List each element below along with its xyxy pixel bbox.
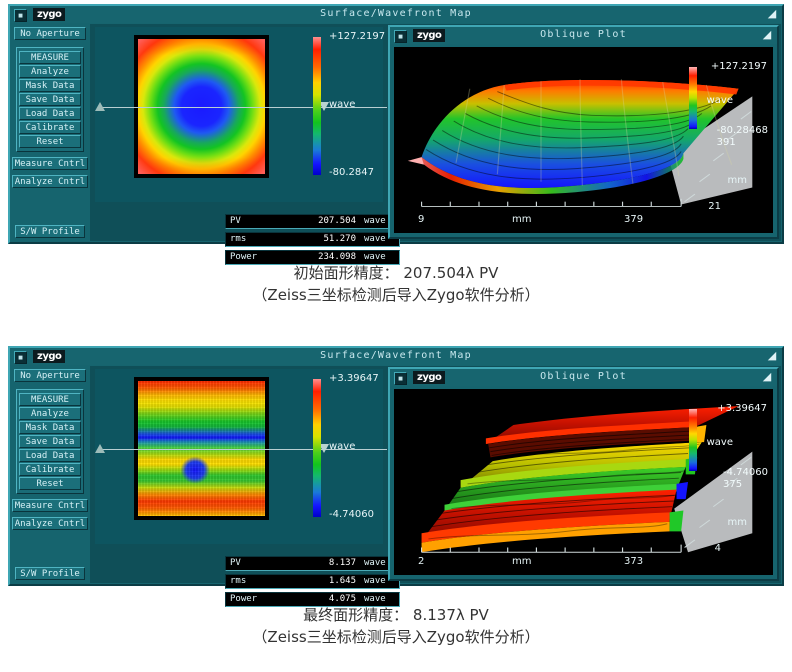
colorbar-unit-label: wave [329,99,355,110]
titlebar: ■ zygo Surface/Wavefront Map ◢ [10,348,782,365]
window-title: Oblique Plot [390,371,777,382]
load-data-button[interactable]: Load Data [19,449,81,462]
surface-map-canvas[interactable]: +3.39647 wave -4.74060 [95,369,383,544]
map-zone: +3.39647 wave -4.74060 PV 8.137 wave rms… [90,366,781,583]
resize-icon[interactable]: ◢ [761,30,773,42]
reset-button[interactable]: Reset [19,477,81,490]
profile-handle-left-icon[interactable] [95,444,105,453]
sw-profile-button[interactable]: S/W Profile [15,567,85,580]
oblique-low-label: -80.28468 391 [717,125,768,149]
save-data-button[interactable]: Save Data [19,93,81,106]
resize-icon[interactable]: ◢ [761,372,773,384]
stat-label: PV [230,216,241,226]
oblique-x-min-label: 2 [418,556,424,567]
titlebar: ■ zygo Surface/Wavefront Map ◢ [10,6,782,23]
control-sidebar: No Aperture MEASURE Analyze Mask Data Sa… [11,24,89,241]
mask-data-button[interactable]: Mask Data [19,421,81,434]
stat-unit: wave [364,216,386,226]
oblique-high-label: +127.2197 [711,61,767,72]
stat-value: 4.075 [288,594,356,604]
oblique-x-unit-label: mm [512,214,531,225]
stat-label: rms [230,234,246,244]
caption-initial: 初始面形精度： 207.504λ PV （Zeiss三坐标检测后导入Zygo软件… [0,262,792,306]
oblique-low-extra: 375 [723,479,742,490]
analyze-button[interactable]: Analyze [19,407,81,420]
colorbar [313,37,321,175]
stat-value: 234.098 [288,252,356,262]
stat-unit: wave [364,234,386,244]
caption-final: 最终面形精度： 8.137λ PV （Zeiss三坐标检测后导入Zygo软件分析… [0,604,792,648]
save-data-button[interactable]: Save Data [19,435,81,448]
stat-unit: wave [364,576,386,586]
command-button-group: MEASURE Analyze Mask Data Save Data Load… [16,47,84,152]
reset-button[interactable]: Reset [19,135,81,148]
window-title: Oblique Plot [390,29,777,40]
analyze-cntrl-button[interactable]: Analyze Cntrl [12,517,88,530]
figure-page: ■ zygo Surface/Wavefront Map ◢ No Apertu… [0,0,792,672]
zygo-window-final: ■ zygo Surface/Wavefront Map ◢ No Apertu… [8,346,784,586]
control-sidebar: No Aperture MEASURE Analyze Mask Data Sa… [11,366,89,583]
stat-unit: wave [364,594,386,604]
oblique-unit-label: wave [707,437,733,448]
measure-button[interactable]: MEASURE [19,393,81,406]
measure-cntrl-button[interactable]: Measure Cntrl [12,499,88,512]
stat-label: PV [230,558,241,568]
calibrate-button[interactable]: Calibrate [19,121,81,134]
caption-line2: （Zeiss三坐标检测后导入Zygo软件分析） [0,626,792,648]
oblique-x-max-label: 379 [624,214,643,225]
oblique-x-min-label: 9 [418,214,424,225]
mask-data-button[interactable]: Mask Data [19,79,81,92]
analyze-cntrl-button[interactable]: Analyze Cntrl [12,175,88,188]
stat-value: 207.504 [288,216,356,226]
colorbar-high-label: +3.39647 [329,373,379,384]
oblique-y-max-label: 4 [715,543,721,554]
stat-unit: wave [364,252,386,262]
stat-unit: wave [364,558,386,568]
oblique-plot-window-initial: ■ zygo Oblique Plot ◢ [388,25,779,239]
map-zone: +127.2197 wave -80.2847 PV 207.504 wave … [90,24,781,241]
oblique-low-value: -80.28468 [717,125,768,136]
measure-button[interactable]: MEASURE [19,51,81,64]
oblique-x-max-label: 373 [624,556,643,567]
oblique-high-label: +3.39647 [717,403,767,414]
window-title: Surface/Wavefront Map [10,8,782,19]
colorbar-low-label: -80.2847 [329,167,374,178]
stats-panel: PV 8.137 wave rms 1.645 wave Power 4.075… [225,556,400,610]
oblique-colorbar [689,67,697,129]
stat-row-rms: rms 51.270 wave [225,232,400,247]
oblique-y-max-label: 21 [708,201,721,212]
resize-icon[interactable]: ◢ [766,351,778,363]
stat-row-pv: PV 8.137 wave [225,556,400,571]
stat-value: 8.137 [288,558,356,568]
calibrate-button[interactable]: Calibrate [19,463,81,476]
sw-profile-button[interactable]: S/W Profile [15,225,85,238]
stat-label: Power [230,594,257,604]
stat-value: 51.270 [288,234,356,244]
colorbar-low-label: -4.74060 [329,509,374,520]
oblique-x-unit-label: mm [512,556,531,567]
caption-line1: 初始面形精度： 207.504λ PV [0,262,792,284]
stat-row-pv: PV 207.504 wave [225,214,400,229]
surface-map-image[interactable] [134,35,269,178]
oblique-unit-label: wave [707,95,733,106]
oblique-plot-window-final: ■ zygo Oblique Plot ◢ [388,367,779,581]
stat-label: rms [230,576,246,586]
surface-map-canvas[interactable]: +127.2197 wave -80.2847 [95,27,383,202]
colorbar-high-label: +127.2197 [329,31,385,42]
titlebar: ■ zygo Oblique Plot ◢ [390,27,777,44]
oblique-plot-canvas[interactable]: +127.2197 wave -80.28468 391 mm 21 9 mm … [394,47,773,233]
oblique-low-value: -4.74060 [723,467,768,478]
stat-value: 1.645 [288,576,356,586]
caption-line1: 最终面形精度： 8.137λ PV [0,604,792,626]
profile-handle-left-icon[interactable] [95,102,105,111]
aperture-button[interactable]: No Aperture [14,369,86,382]
caption-line2: （Zeiss三坐标检测后导入Zygo软件分析） [0,284,792,306]
colorbar [313,379,321,517]
analyze-button[interactable]: Analyze [19,65,81,78]
oblique-y-unit-label: mm [728,517,747,528]
oblique-y-unit-label: mm [728,175,747,186]
oblique-low-extra: 391 [717,137,736,148]
stat-label: Power [230,252,257,262]
command-button-group: MEASURE Analyze Mask Data Save Data Load… [16,389,84,494]
zygo-window-initial: ■ zygo Surface/Wavefront Map ◢ No Apertu… [8,4,784,244]
stats-panel: PV 207.504 wave rms 51.270 wave Power 23… [225,214,400,268]
colorbar-unit-label: wave [329,441,355,452]
titlebar: ■ zygo Oblique Plot ◢ [390,369,777,386]
oblique-low-label: -4.74060 375 [723,467,768,491]
aperture-button[interactable]: No Aperture [14,27,86,40]
measure-cntrl-button[interactable]: Measure Cntrl [12,157,88,170]
oblique-colorbar [689,409,697,471]
stat-row-rms: rms 1.645 wave [225,574,400,589]
load-data-button[interactable]: Load Data [19,107,81,120]
oblique-plot-canvas[interactable]: +3.39647 wave -4.74060 375 mm 4 2 mm 373 [394,389,773,575]
window-title: Surface/Wavefront Map [10,350,782,361]
resize-icon[interactable]: ◢ [766,9,778,21]
surface-map-image[interactable] [134,377,269,520]
